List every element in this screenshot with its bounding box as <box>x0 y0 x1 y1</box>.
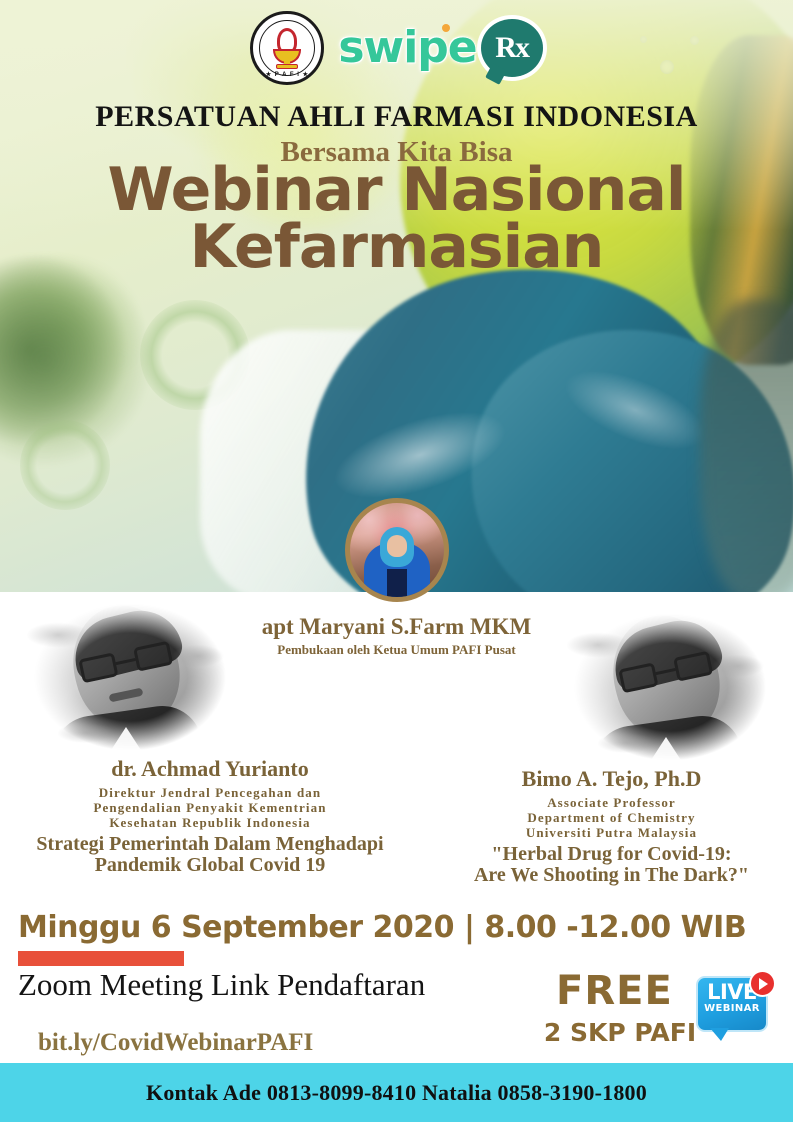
rx-speech-bubble-icon: Rx <box>481 19 543 77</box>
center-speaker: apt Maryani S.Farm MKM Pembukaan oleh Ke… <box>0 498 793 658</box>
free-badge: FREE <box>556 968 673 1014</box>
swipe-wordmark: swipe <box>338 26 476 70</box>
skp-badge: 2 SKP PAFI <box>530 1018 710 1047</box>
speaker-info-right: Bimo A. Tejo, Ph.D Associate Professor D… <box>430 766 793 887</box>
speaker-name: Bimo A. Tejo, Ph.D <box>430 766 793 792</box>
logo-row: ★ P A F I ★ swipe Rx <box>0 8 793 88</box>
rx-label: Rx <box>495 31 528 65</box>
webinar-label: WEBINAR <box>696 1003 768 1014</box>
title-line-2: Kefarmasian <box>0 219 793 276</box>
speaker-topic: Strategi Pemerintah Dalam Menghadapi Pan… <box>0 834 420 877</box>
contact-text: Kontak Ade 0813-8099-8410 Natalia 0858-3… <box>146 1080 647 1106</box>
schedule-date-time: Minggu 6 September 2020 | 8.00 -12.00 WI… <box>18 910 746 945</box>
virus-particle <box>0 250 130 450</box>
center-speaker-avatar <box>345 498 449 602</box>
pafi-logo: ★ P A F I ★ <box>250 11 324 85</box>
center-speaker-role: Pembukaan oleh Ketua Umum PAFI Pusat <box>0 642 793 658</box>
speaker-affiliation: Associate Professor Department of Chemis… <box>430 796 793 841</box>
pafi-logo-bottom-text: ★ P A F I ★ <box>253 71 321 78</box>
swiperx-logo: swipe Rx <box>338 19 542 77</box>
play-button-icon <box>749 970 776 997</box>
registration-platform-label: Zoom Meeting Link Pendaftaran <box>18 967 425 1003</box>
red-accent-bar <box>18 951 184 966</box>
page-title: Webinar Nasional Kefarmasian <box>0 162 793 276</box>
organization-title: PERSATUAN AHLI FARMASI INDONESIA <box>0 100 793 134</box>
speaker-name: dr. Achmad Yurianto <box>0 756 420 782</box>
bowl-base <box>276 64 298 69</box>
speaker-info-left: dr. Achmad Yurianto Direktur Jendral Pen… <box>0 756 420 877</box>
contact-footer: Kontak Ade 0813-8099-8410 Natalia 0858-3… <box>0 1063 793 1122</box>
speaker-topic: "Herbal Drug for Covid-19: Are We Shooti… <box>430 844 793 887</box>
swipe-dot-icon <box>442 24 450 32</box>
avatar-face <box>387 535 407 557</box>
webinar-poster: ★ P A F I ★ swipe Rx PERSATUAN AHLI FARM… <box>0 0 793 1122</box>
avatar-inner-garment <box>387 569 407 601</box>
live-webinar-badge: LIVE WEBINAR <box>696 970 776 1046</box>
center-speaker-name: apt Maryani S.Farm MKM <box>0 614 793 640</box>
swipe-wordmark-text: swipe <box>338 22 476 73</box>
registration-link[interactable]: bit.ly/CovidWebinarPAFI <box>38 1029 313 1057</box>
speaker-affiliation: Direktur Jendral Pencegahan dan Pengenda… <box>0 786 420 831</box>
